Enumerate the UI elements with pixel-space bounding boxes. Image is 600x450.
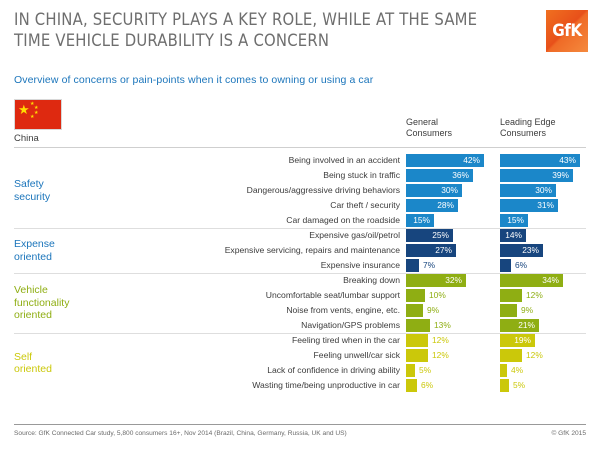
bar-leading-edge-consumers: 19% (500, 334, 535, 347)
flag-star-3: ★ (34, 111, 38, 116)
bar-general-consumers: 10% (406, 289, 425, 302)
bar-general-consumers: 5% (406, 364, 415, 377)
bar-chart: Being involved in an accident42%43%Being… (0, 148, 600, 423)
bar-value: 39% (552, 169, 569, 182)
bar-value: 30% (535, 184, 552, 197)
bar-value: 5% (513, 379, 525, 392)
bar-general-consumers: 13% (406, 319, 430, 332)
column-header-general-line1: General (406, 117, 452, 128)
bar-value: 19% (514, 334, 531, 347)
group-label-line: Expense (14, 238, 114, 251)
country-label: China (14, 133, 39, 144)
bar-value: 15% (413, 214, 430, 227)
bar-value: 9% (427, 304, 439, 317)
row-label: Wasting time/being unproductive in car (120, 379, 400, 392)
row-label: Expensive insurance (120, 259, 400, 272)
bar-value: 34% (542, 274, 559, 287)
group-label: Selforiented (14, 351, 114, 376)
bar-leading-edge-consumers: 39% (500, 169, 573, 182)
bar-leading-edge-consumers: 34% (500, 274, 563, 287)
chart-row: Car damaged on the roadside15%15% (0, 214, 600, 229)
row-label: Uncomfortable seat/lumbar support (120, 289, 400, 302)
bar-leading-edge-consumers: 31% (500, 199, 558, 212)
bar-value: 31% (537, 199, 554, 212)
row-label: Being involved in an accident (120, 154, 400, 167)
bar-value: 14% (505, 229, 522, 242)
bar-value: 23% (522, 244, 539, 257)
group-label: Safetysecurity (14, 178, 114, 203)
gfk-logo: GfK (546, 10, 588, 52)
row-label: Navigation/GPS problems (120, 319, 400, 332)
chart-row: Being involved in an accident42%43% (0, 154, 600, 169)
bar-leading-edge-consumers: 9% (500, 304, 517, 317)
bar-general-consumers: 28% (406, 199, 458, 212)
row-label: Car theft / security (120, 199, 400, 212)
bar-value: 27% (435, 244, 452, 257)
bar-value: 25% (432, 229, 449, 242)
group-label: Vehiclefunctionalityoriented (14, 284, 114, 322)
bar-value: 12% (432, 334, 449, 347)
row-label: Feeling tired when in the car (120, 334, 400, 347)
row-label: Expensive servicing, repairs and mainten… (120, 244, 400, 257)
row-label: Noise from vents, engine, etc. (120, 304, 400, 317)
bar-general-consumers: 15% (406, 214, 434, 227)
bar-leading-edge-consumers: 6% (500, 259, 511, 272)
bar-value: 7% (423, 259, 435, 272)
row-label: Breaking down (120, 274, 400, 287)
bar-value: 28% (437, 199, 454, 212)
page-title: IN CHINA, SECURITY PLAYS A KEY ROLE, WHI… (14, 9, 504, 51)
bar-value: 32% (445, 274, 462, 287)
bar-value: 12% (526, 289, 543, 302)
bar-leading-edge-consumers: 15% (500, 214, 528, 227)
column-header-general-line2: Consumers (406, 128, 452, 139)
china-flag-icon: ★ ★ ★ ★ ★ (14, 99, 62, 130)
footer-copyright: © GfK 2015 (551, 430, 586, 437)
group-label: Expenseoriented (14, 238, 114, 263)
bar-value: 6% (421, 379, 433, 392)
group-label-line: oriented (14, 309, 114, 322)
flag-star-4: ★ (30, 115, 34, 120)
footer-source: Source: GfK Connected Car study, 5,800 c… (14, 430, 347, 437)
bar-general-consumers: 12% (406, 349, 428, 362)
bar-leading-edge-consumers: 12% (500, 349, 522, 362)
flag-star-large: ★ (18, 103, 30, 116)
bar-general-consumers: 32% (406, 274, 466, 287)
bar-leading-edge-consumers: 43% (500, 154, 580, 167)
row-label: Being stuck in traffic (120, 169, 400, 182)
group-label-line: Vehicle (14, 284, 114, 297)
column-header-leading-line2: Consumers (500, 128, 556, 139)
bar-general-consumers: 25% (406, 229, 453, 242)
bar-value: 42% (463, 154, 480, 167)
group-label-line: Safety (14, 178, 114, 191)
column-header-leading-edge-consumers: Leading Edge Consumers (500, 117, 556, 139)
bar-leading-edge-consumers: 4% (500, 364, 507, 377)
gfk-logo-text: GfK (552, 21, 582, 41)
page-header: IN CHINA, SECURITY PLAYS A KEY ROLE, WHI… (0, 0, 600, 62)
bar-general-consumers: 42% (406, 154, 484, 167)
bar-value: 6% (515, 259, 527, 272)
bar-leading-edge-consumers: 30% (500, 184, 556, 197)
bar-general-consumers: 9% (406, 304, 423, 317)
bar-general-consumers: 12% (406, 334, 428, 347)
bar-value: 12% (526, 349, 543, 362)
bar-leading-edge-consumers: 12% (500, 289, 522, 302)
bar-value: 5% (419, 364, 431, 377)
bar-general-consumers: 36% (406, 169, 473, 182)
bar-general-consumers: 7% (406, 259, 419, 272)
bar-leading-edge-consumers: 21% (500, 319, 539, 332)
row-label: Car damaged on the roadside (120, 214, 400, 227)
bar-general-consumers: 6% (406, 379, 417, 392)
column-header-leading-line1: Leading Edge (500, 117, 556, 128)
bar-value: 10% (429, 289, 446, 302)
group-label-line: functionality (14, 297, 114, 310)
group-label-line: oriented (14, 363, 114, 376)
group-label-line: Self (14, 351, 114, 364)
bar-general-consumers: 27% (406, 244, 456, 257)
chart-row: Wasting time/being unproductive in car6%… (0, 379, 600, 394)
subtitle: Overview of concerns or pain-points when… (14, 74, 373, 86)
column-header-general-consumers: General Consumers (406, 117, 452, 139)
bar-value: 13% (434, 319, 451, 332)
bar-general-consumers: 30% (406, 184, 462, 197)
bar-value: 43% (559, 154, 576, 167)
group-label-line: security (14, 191, 114, 204)
chart-row: Feeling tired when in the car12%19% (0, 334, 600, 349)
bar-leading-edge-consumers: 5% (500, 379, 509, 392)
bar-value: 4% (511, 364, 523, 377)
footer-divider (14, 424, 586, 425)
group-label-line: oriented (14, 251, 114, 264)
row-label: Dangerous/aggressive driving behaviors (120, 184, 400, 197)
row-label: Feeling unwell/car sick (120, 349, 400, 362)
bar-value: 12% (432, 349, 449, 362)
bar-value: 15% (507, 214, 524, 227)
bar-value: 21% (518, 319, 535, 332)
bar-value: 9% (521, 304, 533, 317)
bar-leading-edge-consumers: 14% (500, 229, 526, 242)
bar-value: 30% (441, 184, 458, 197)
bar-leading-edge-consumers: 23% (500, 244, 543, 257)
bar-value: 36% (452, 169, 469, 182)
row-label: Expensive gas/oil/petrol (120, 229, 400, 242)
row-label: Lack of confidence in driving ability (120, 364, 400, 377)
